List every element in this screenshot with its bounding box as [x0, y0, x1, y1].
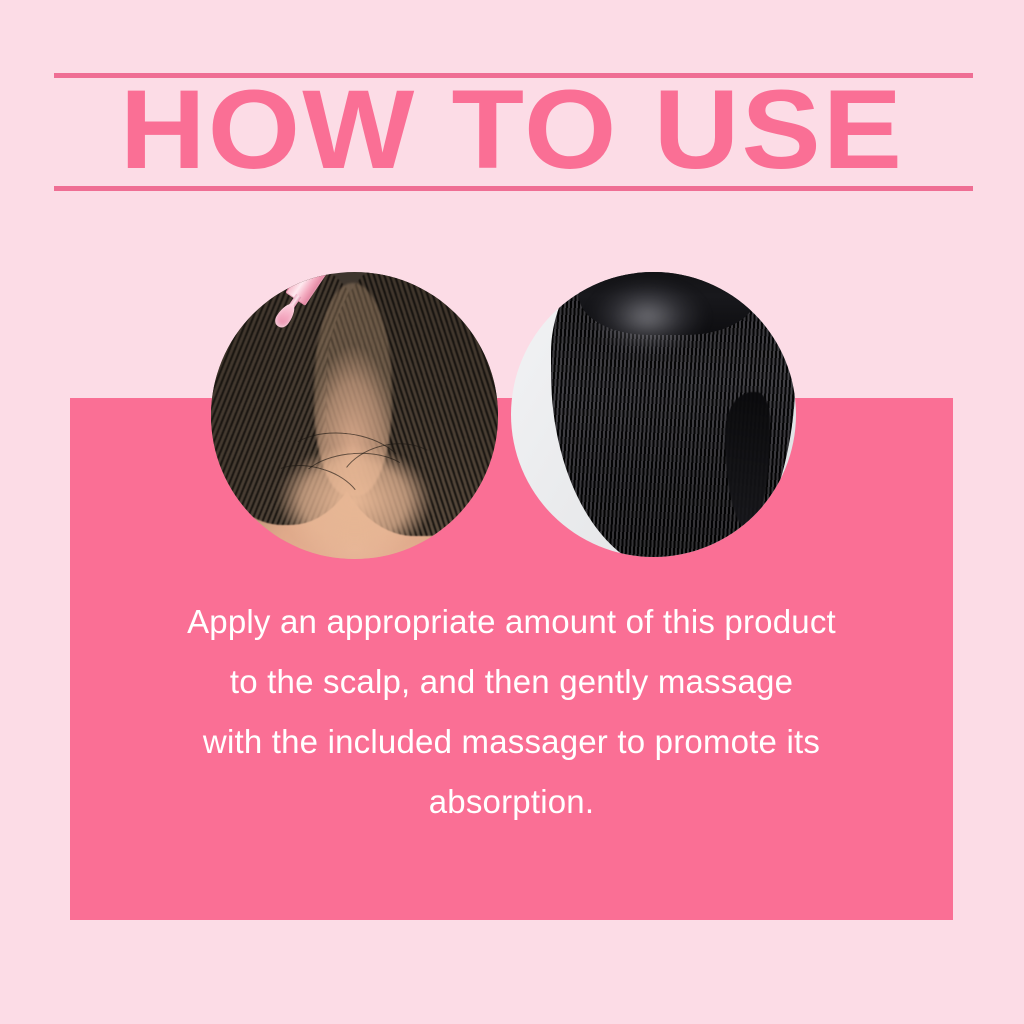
instructions-line: to the scalp, and then gently massage: [70, 652, 953, 712]
scalp-dropper-photo: [211, 272, 498, 559]
title-bottom-divider: [54, 186, 973, 191]
instructions-line: with the included massager to promote it…: [70, 712, 953, 772]
instructions-line: Apply an appropriate amount of this prod…: [70, 592, 953, 652]
instructions-text: Apply an appropriate amount of this prod…: [70, 592, 953, 832]
instructions-line: absorption.: [70, 772, 953, 832]
hair-shine-highlight: [585, 283, 710, 380]
page-title: HOW TO USE: [0, 78, 1024, 182]
scalp-image: [211, 272, 498, 559]
healthy-hair-photo: [511, 272, 796, 557]
how-to-use-poster: HOW TO USE: [0, 0, 1024, 1024]
hair-image: [511, 272, 796, 557]
